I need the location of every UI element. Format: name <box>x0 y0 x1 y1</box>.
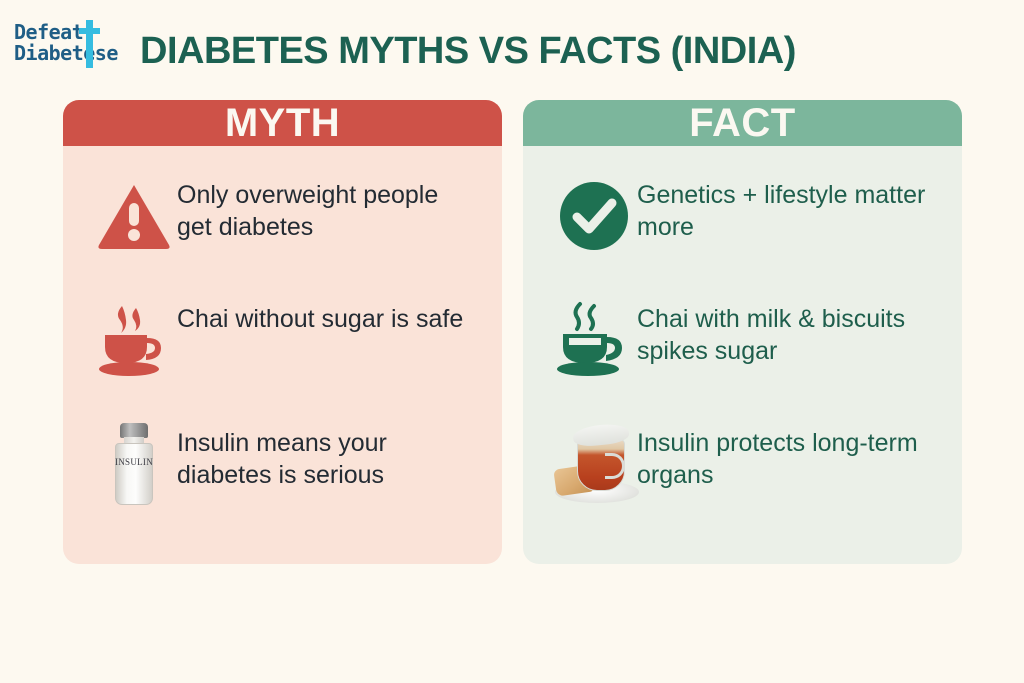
brand-logo-line1: Defeat <box>14 22 132 42</box>
warning-triangle-icon <box>91 172 177 258</box>
fact-panel: FACT Genetics + lifestyle matter more <box>523 100 962 564</box>
vial-cap <box>120 423 148 438</box>
fact-panel-heading: FACT <box>523 100 962 146</box>
myth-row-3-text: Insulin means your diabetes is serious <box>177 420 474 491</box>
fact-row-2-text: Chai with milk & biscuits spikes sugar <box>637 296 934 367</box>
myth-row-2: Chai without sugar is safe <box>91 296 474 420</box>
myth-row-1: Only overweight people get diabetes <box>91 172 474 296</box>
fact-row-1-text: Genetics + lifestyle matter more <box>637 172 934 243</box>
myth-panel: MYTH Only overweight people get diabetes <box>63 100 502 564</box>
page-title: DIABETES MYTHS VS FACTS (INDIA) <box>140 30 796 73</box>
cross-accent-icon <box>86 20 93 68</box>
fact-row-2: Chai with milk & biscuits spikes sugar <box>551 296 934 420</box>
insulin-vial-image: INSULIN <box>91 420 177 506</box>
myth-row-1-text: Only overweight people get diabetes <box>177 172 474 243</box>
fact-row-3-text: Insulin protects long-term organs <box>637 420 934 491</box>
teacup-green-icon <box>551 296 637 382</box>
myth-row-2-text: Chai without sugar is safe <box>177 296 463 336</box>
comparison-panels: MYTH Only overweight people get diabetes <box>63 100 963 564</box>
brand-logo-line2: Diabetese <box>14 43 132 63</box>
myth-panel-heading: MYTH <box>63 100 502 146</box>
fact-row-3: Insulin protects long-term organs <box>551 420 934 544</box>
brand-logo: Defeat Diabetese <box>14 22 132 70</box>
teacup-red-icon <box>91 296 177 382</box>
tea-with-biscuits-image <box>551 420 637 506</box>
myth-row-3: INSULIN Insulin means your diabetes is s… <box>91 420 474 544</box>
vial-body <box>115 443 153 505</box>
check-circle-icon <box>551 172 637 258</box>
fact-row-1: Genetics + lifestyle matter more <box>551 172 934 296</box>
myth-panel-body: Only overweight people get diabetes Chai… <box>63 146 502 564</box>
vial-label: INSULIN <box>113 457 155 467</box>
fact-panel-body: Genetics + lifestyle matter more Chai wi… <box>523 146 962 564</box>
